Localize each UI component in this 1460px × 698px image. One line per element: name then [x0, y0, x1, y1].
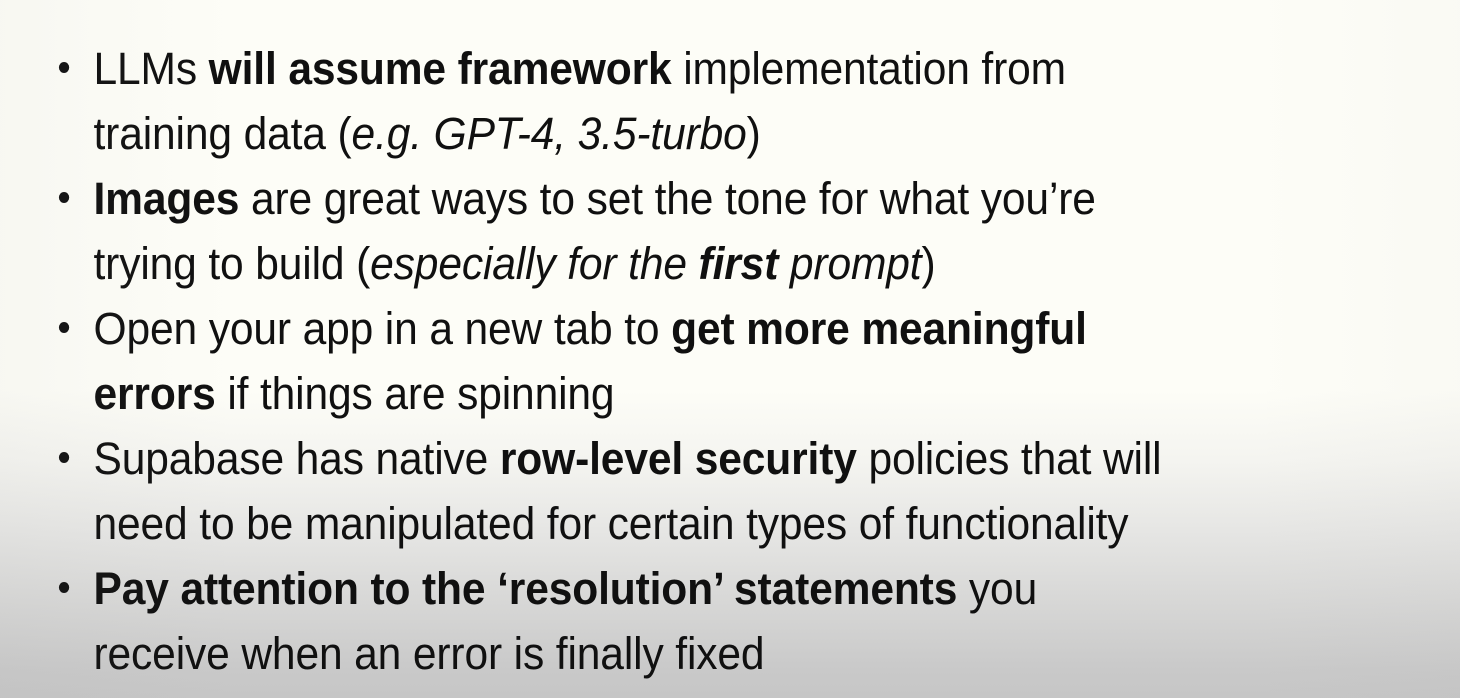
text-run-italic: especially for the — [370, 238, 698, 289]
text-run-italic: e.g. GPT-4, 3.5-turbo — [352, 108, 747, 159]
text-run-normal: trying to build ( — [94, 238, 371, 289]
text-run-normal: ) — [921, 238, 935, 289]
bullet-text-line: errors if things are spinning — [94, 361, 1349, 426]
bullet-text-line: Images are great ways to set the tone fo… — [94, 166, 1349, 231]
text-run-bold: Images — [94, 173, 240, 224]
text-run-bold: row-level security — [500, 433, 857, 484]
bullet-text-line: trying to build (especially for the firs… — [94, 231, 1349, 296]
text-run-normal: receive when an error is finally fixed — [94, 628, 765, 679]
bullet-resolution-statements: Pay attention to the ‘resolution’ statem… — [0, 556, 1365, 686]
text-run-normal: ) — [747, 108, 761, 159]
text-run-normal: training data ( — [94, 108, 352, 159]
text-run-normal: if things are spinning — [216, 368, 615, 419]
text-run-normal: policies that will — [857, 433, 1162, 484]
text-run-normal: implementation from — [672, 43, 1066, 94]
text-run-italic: prompt — [778, 238, 921, 289]
bullet-llm-framework: LLMs will assume framework implementatio… — [0, 36, 1365, 166]
bullet-new-tab-errors: Open your app in a new tab to get more m… — [0, 296, 1365, 426]
text-run-normal: need to be manipulated for certain types… — [94, 498, 1129, 549]
text-run-normal: are great ways to set the tone for what … — [239, 173, 1096, 224]
text-run-normal: you — [957, 563, 1037, 614]
bullet-text-line: Supabase has native row-level security p… — [94, 426, 1349, 491]
bullet-text-line: Pay attention to the ‘resolution’ statem… — [94, 556, 1349, 621]
bullet-supabase-rls: Supabase has native row-level security p… — [0, 426, 1365, 556]
bullet-text-line: Open your app in a new tab to get more m… — [94, 296, 1349, 361]
bullet-images-tone: Images are great ways to set the tone fo… — [0, 166, 1365, 296]
text-run-bold-italic: first — [699, 238, 779, 289]
text-run-bold: Pay attention to the ‘resolution’ statem… — [94, 563, 958, 614]
bullet-point-icon — [59, 192, 69, 203]
text-run-normal: Supabase has native — [94, 433, 500, 484]
bullet-text-line: receive when an error is finally fixed — [94, 621, 1349, 686]
bullet-point-icon — [59, 322, 69, 333]
text-run-bold: errors — [94, 368, 216, 419]
bullet-point-icon — [59, 62, 69, 73]
bullet-text-line: training data (e.g. GPT-4, 3.5-turbo) — [94, 101, 1349, 166]
bullet-list: LLMs will assume framework implementatio… — [0, 36, 1460, 686]
slide-canvas: LLMs will assume framework implementatio… — [0, 0, 1460, 698]
bullet-point-icon — [59, 582, 69, 593]
bullet-point-icon — [59, 452, 69, 463]
text-run-normal: LLMs — [94, 43, 209, 94]
bullet-text-line: LLMs will assume framework implementatio… — [94, 36, 1349, 101]
text-run-bold: will assume framework — [209, 43, 672, 94]
bullet-text-line: need to be manipulated for certain types… — [94, 491, 1349, 556]
text-run-normal: Open your app in a new tab to — [94, 303, 672, 354]
text-run-bold: get more meaningful — [671, 303, 1087, 354]
